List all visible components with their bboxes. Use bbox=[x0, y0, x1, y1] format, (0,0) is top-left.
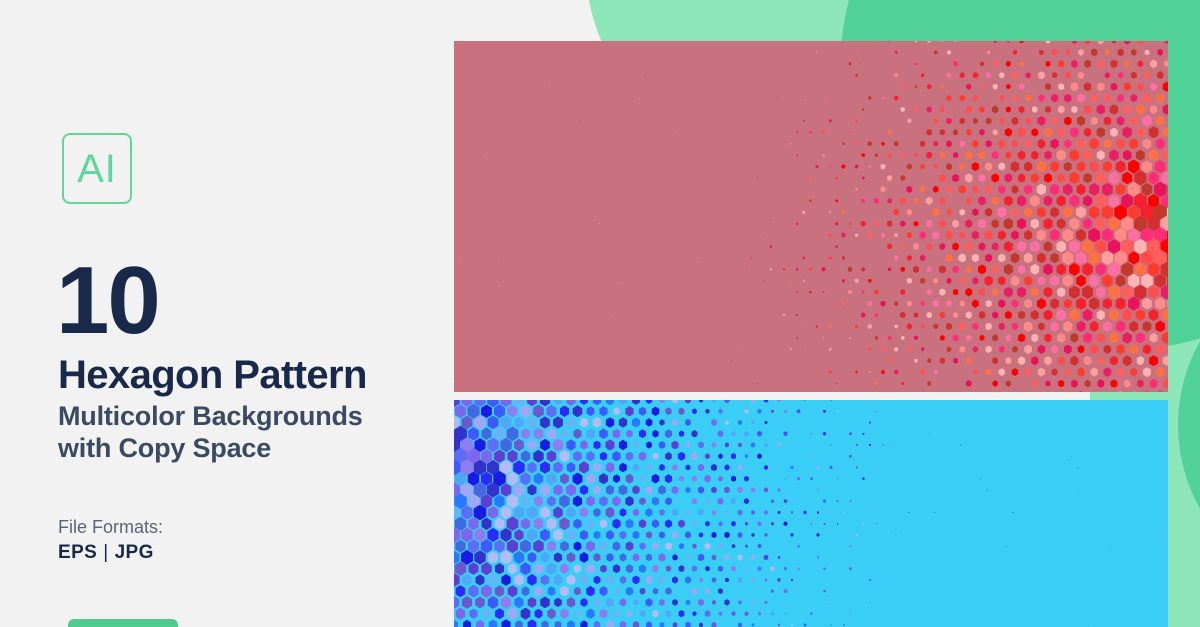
page-subtitle-line-1: Multicolor Backgrounds bbox=[58, 400, 363, 432]
hexagon-field-red bbox=[454, 41, 1168, 392]
info-panel: AI 10 Hexagon Pattern Multicolor Backgro… bbox=[0, 0, 454, 627]
page-subtitle: Multicolor Backgrounds with Copy Space bbox=[58, 400, 363, 464]
file-format-jpg: JPG bbox=[115, 542, 154, 563]
page-subtitle-line-2: with Copy Space bbox=[58, 432, 363, 464]
ai-badge-label: AI bbox=[77, 149, 117, 189]
file-formats-label: File Formats: bbox=[58, 516, 163, 538]
hexagon-field-blue bbox=[454, 400, 1168, 627]
file-format-eps: EPS bbox=[58, 542, 97, 563]
file-format-separator: | bbox=[97, 542, 114, 563]
file-formats-value: EPS|JPG bbox=[58, 541, 154, 565]
ai-file-format-badge-icon: AI bbox=[62, 133, 132, 204]
preview-thumbnail-red[interactable] bbox=[454, 41, 1168, 392]
cta-button[interactable] bbox=[68, 619, 178, 627]
page-title: Hexagon Pattern bbox=[58, 352, 367, 398]
preview-thumbnail-blue[interactable] bbox=[454, 400, 1168, 627]
product-preview-canvas: AI 10 Hexagon Pattern Multicolor Backgro… bbox=[0, 0, 1200, 627]
item-count: 10 bbox=[56, 253, 159, 349]
